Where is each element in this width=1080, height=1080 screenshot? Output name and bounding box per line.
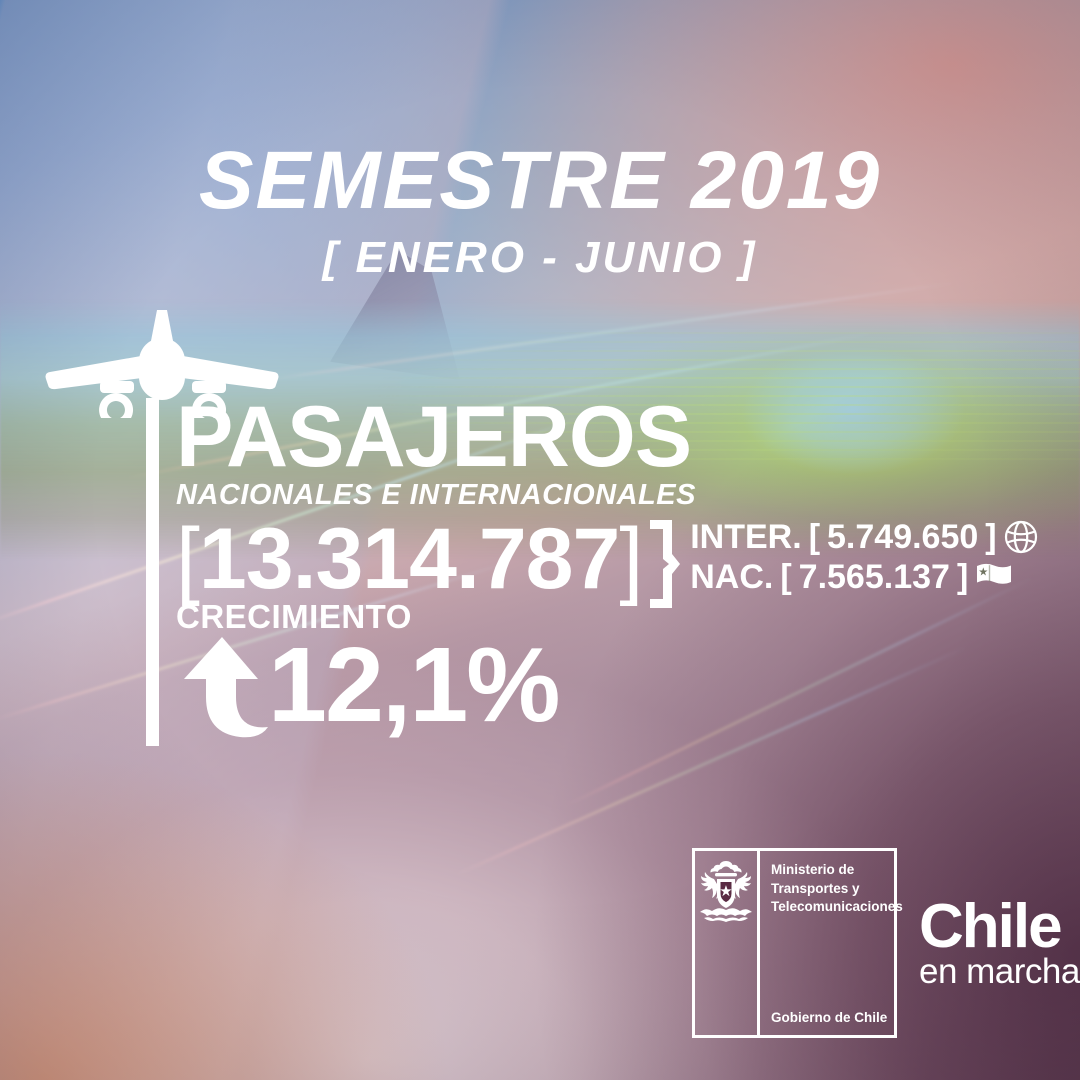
infographic-poster: SEMESTRE 2019 [ ENERO - JUNIO ] [0,0,1080,1080]
passengers-sublabel: NACIONALES E INTERNACIONALES [176,481,1076,510]
brace-divider-icon [648,518,682,610]
breakdown-item-national: NAC. [ 7.565.137 ] [690,558,1037,596]
total-passengers-figure: [13.314.787] [176,516,642,602]
brand-main-text: Chile [919,898,1080,955]
vertical-divider [146,398,159,746]
breakdown-value-international: 5.749.650 [827,518,978,556]
poster-header: SEMESTRE 2019 [ ENERO - JUNIO ] [0,140,1080,280]
brand-sub-text: en marcha [919,956,1080,988]
breakdown-label-national: NAC. [690,558,773,596]
ministry-logo-box: Ministerio de Transportes y Telecomunica… [692,848,897,1038]
passenger-figure-row: [13.314.787] INTER. [ 5.749.650 ] [176,516,1076,610]
ministry-line-1: Ministerio de [771,861,903,880]
government-logo-block: Ministerio de Transportes y Telecomunica… [692,848,1080,1038]
growth-block: CRECIMIENTO 12,1% [176,600,559,739]
breakdown-bracket-open-nac: [ [780,558,791,596]
chile-flag-icon [975,562,1013,592]
bracket-close: ] [619,511,642,607]
breakdown-bracket-close-nac: ] [957,558,968,596]
passenger-breakdown-list: INTER. [ 5.749.650 ] NAC. [ [690,518,1037,596]
poster-content: SEMESTRE 2019 [ ENERO - JUNIO ] [0,0,1080,1080]
poster-title: SEMESTRE 2019 [0,140,1080,222]
coat-of-arms-cell [695,851,760,1035]
breakdown-bracket-close-intl: ] [985,518,996,556]
government-name: Gobierno de Chile [771,1010,903,1026]
passenger-stats-block: PASAJEROS NACIONALES E INTERNACIONALES [… [176,398,1076,610]
chile-en-marcha-brand: Chile en marcha [919,898,1080,988]
globe-icon [1004,520,1038,554]
breakdown-value-national: 7.565.137 [799,558,950,596]
ministry-name: Ministerio de Transportes y Telecomunica… [771,861,903,917]
arrow-up-curved-icon [178,631,274,739]
chile-coat-of-arms-icon [695,860,757,926]
passengers-label: PASAJEROS [176,398,1076,477]
growth-value: 12,1% [268,632,559,738]
breakdown-bracket-open-intl: [ [809,518,820,556]
bracket-open: [ [176,511,199,607]
breakdown-label-international: INTER. [690,518,801,556]
growth-value-row: 12,1% [176,631,559,739]
poster-subtitle: [ ENERO - JUNIO ] [0,236,1080,280]
ministry-text-cell: Ministerio de Transportes y Telecomunica… [760,851,903,1035]
breakdown-item-international: INTER. [ 5.749.650 ] [690,518,1037,556]
ministry-line-2: Transportes y [771,880,903,899]
total-passengers-value: 13.314.787 [199,511,619,607]
ministry-line-3: Telecomunicaciones [771,898,903,917]
